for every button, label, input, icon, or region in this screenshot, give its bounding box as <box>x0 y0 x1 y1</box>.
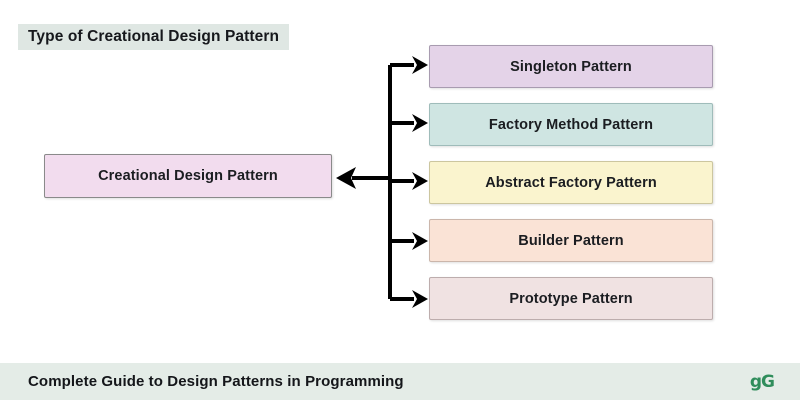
page-title-text: Type of Creational Design Pattern <box>28 28 279 46</box>
node-label: Prototype Pattern <box>509 291 632 307</box>
arrow-left-to-root <box>336 167 356 189</box>
arrow-right-to-leaf-4 <box>412 290 428 308</box>
geeksforgeeks-logo-text: gG <box>750 372 774 392</box>
node-label: Builder Pattern <box>518 233 623 249</box>
arrow-right-to-leaf-1 <box>412 114 428 132</box>
footer-caption: Complete Guide to Design Patterns in Pro… <box>28 373 404 390</box>
arrow-right-to-leaf-0 <box>412 56 428 74</box>
node-label: Creational Design Pattern <box>98 168 278 184</box>
node-label: Factory Method Pattern <box>489 117 653 133</box>
node-prototype-pattern[interactable]: Prototype Pattern <box>429 277 713 320</box>
node-singleton-pattern[interactable]: Singleton Pattern <box>429 45 713 88</box>
node-label: Abstract Factory Pattern <box>485 175 657 191</box>
page-title: Type of Creational Design Pattern <box>18 24 289 50</box>
footer-bar: Complete Guide to Design Patterns in Pro… <box>0 363 800 400</box>
node-factory-method-pattern[interactable]: Factory Method Pattern <box>429 103 713 146</box>
node-builder-pattern[interactable]: Builder Pattern <box>429 219 713 262</box>
node-creational-design-pattern[interactable]: Creational Design Pattern <box>44 154 332 198</box>
arrow-right-to-leaf-2 <box>412 172 428 190</box>
node-label: Singleton Pattern <box>510 59 632 75</box>
geeksforgeeks-logo-icon: gG <box>750 372 774 392</box>
arrow-right-to-leaf-3 <box>412 232 428 250</box>
diagram-canvas: Type of Creational Design Pattern <box>0 0 800 400</box>
node-abstract-factory-pattern[interactable]: Abstract Factory Pattern <box>429 161 713 204</box>
